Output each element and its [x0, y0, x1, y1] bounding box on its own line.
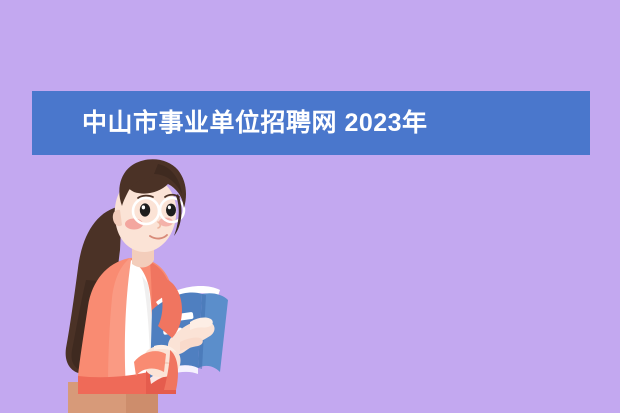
article-header-card: 中山市事业单位招聘网 2023年 — [0, 0, 620, 413]
page-title: 中山市事业单位招聘网 2023年 — [82, 111, 428, 136]
title-banner: 中山市事业单位招聘网 2023年 — [32, 91, 590, 155]
woman-reading-book-illustration — [30, 150, 270, 413]
